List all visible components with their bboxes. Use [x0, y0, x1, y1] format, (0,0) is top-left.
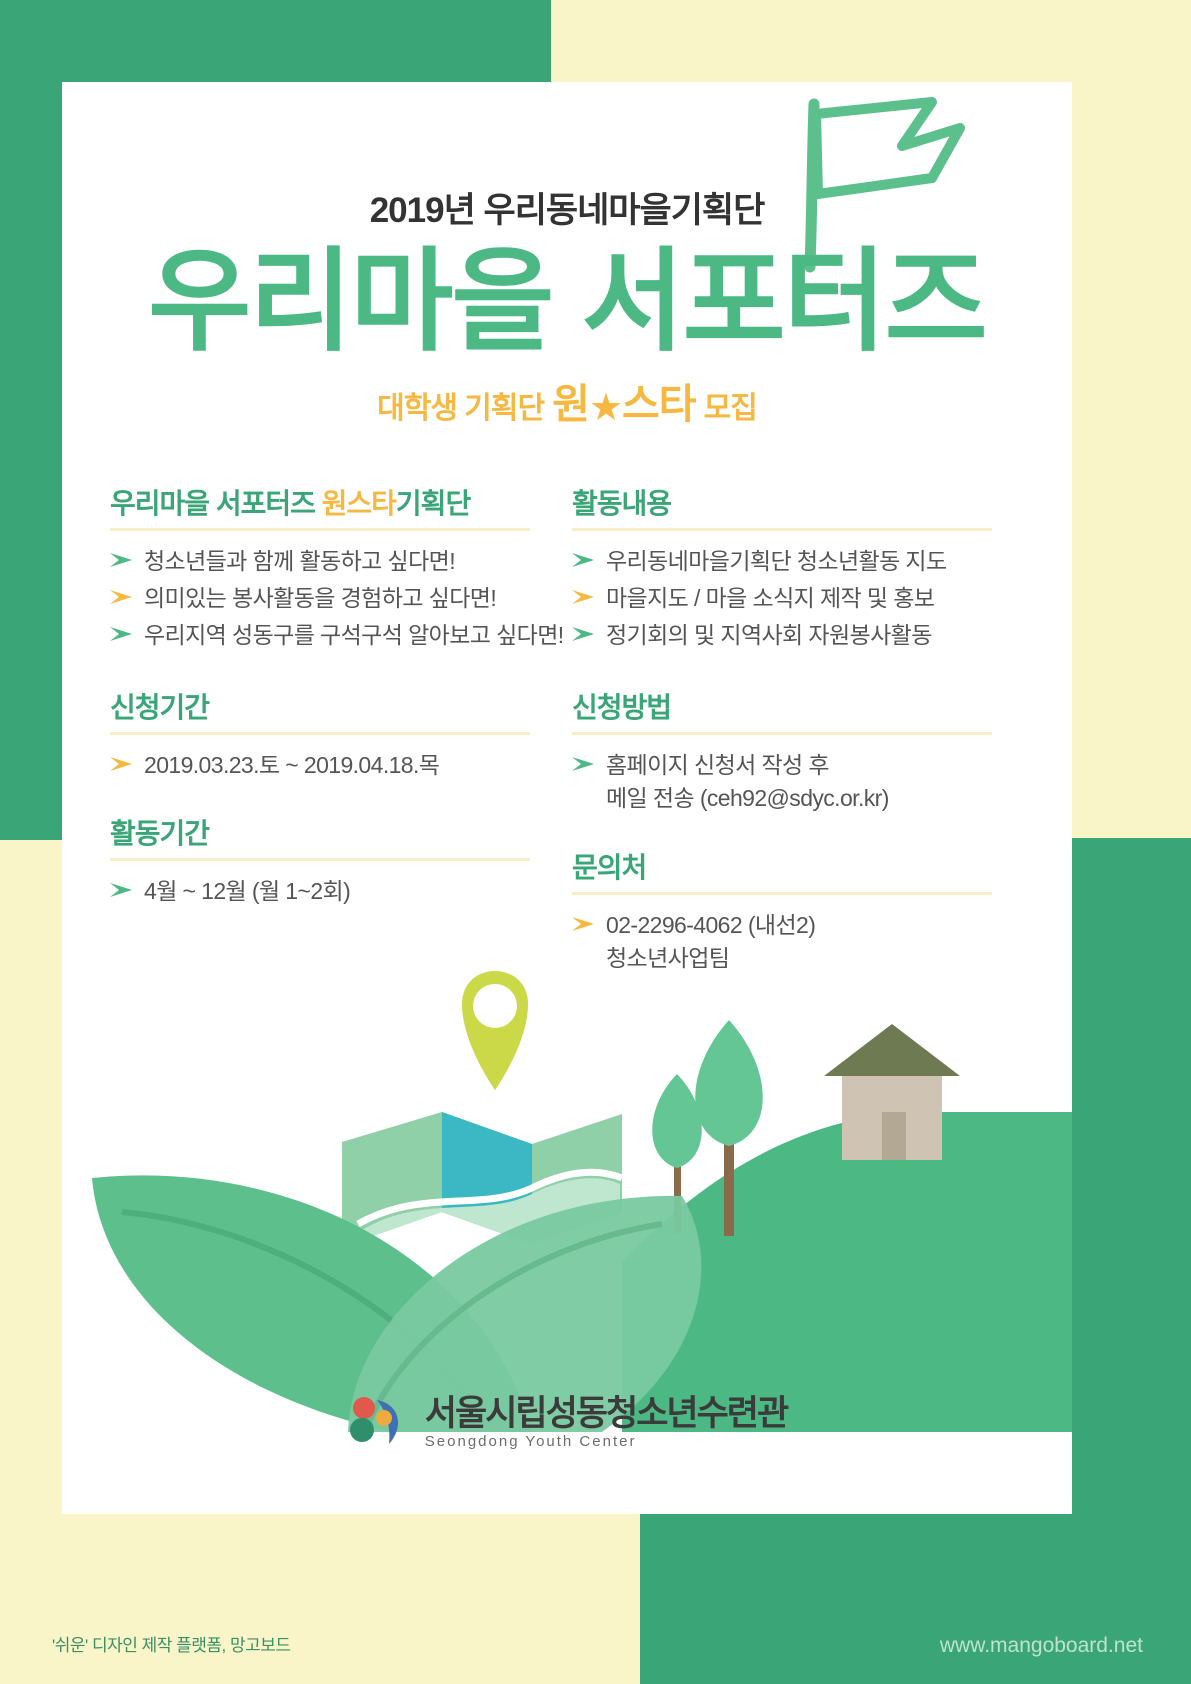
section-heading: 활동내용	[572, 482, 1032, 528]
section-heading-plain-b: 기획단	[396, 488, 470, 519]
section-heading-plain-a: 활동기간	[110, 818, 209, 849]
section-divider	[110, 732, 530, 735]
info-section: 활동기간4월 ~ 12월 (월 1~2회)	[110, 812, 570, 908]
list-item: 2019.03.23.토 ~ 2019.04.18.목	[110, 749, 570, 782]
arrow-bullet-yellow-icon	[572, 589, 596, 605]
list-item-text: 2019.03.23.토 ~ 2019.04.18.목	[144, 749, 439, 782]
list-item: 4월 ~ 12월 (월 1~2회)	[110, 875, 570, 908]
poster-kicker: 2019년 우리동네마을기획단	[62, 182, 1072, 233]
list-item-line-2: 메일 전송 (ceh92@sdyc.or.kr)	[606, 782, 889, 815]
list-item-line-1: 우리동네마을기획단 청소년활동 지도	[606, 548, 947, 574]
list-item-line-1: 마을지도 / 마을 소식지 제작 및 홍보	[606, 585, 934, 611]
section-divider	[110, 528, 530, 531]
list-item-text: 우리동네마을기획단 청소년활동 지도	[606, 545, 947, 578]
info-section: 우리마을 서포터즈 원스타기획단청소년들과 함께 활동하고 싶다면!의미있는 봉…	[110, 482, 570, 652]
page-title: 우리마을 서포터즈	[62, 232, 1072, 372]
section-heading-plain-a: 문의처	[572, 852, 646, 883]
footer-credit: '쉬운' 디자인 제작 플랫폼, 망고보드	[52, 1631, 291, 1656]
list-item: 마을지도 / 마을 소식지 제작 및 홍보	[572, 582, 1032, 615]
list-item: 청소년들과 함께 활동하고 싶다면!	[110, 545, 570, 578]
arrow-bullet-green-icon	[110, 552, 134, 568]
section-heading-plain-a: 활동내용	[572, 488, 671, 519]
list-item-line-1: 정기회의 및 지역사회 자원봉사활동	[606, 622, 932, 648]
info-columns: 우리마을 서포터즈 원스타기획단청소년들과 함께 활동하고 싶다면!의미있는 봉…	[62, 482, 1072, 1042]
arrow-bullet-green-icon	[572, 552, 596, 568]
section-heading-plain-a: 신청방법	[572, 692, 671, 723]
section-heading-plain-a: 우리마을 서포터즈	[110, 488, 322, 519]
list-item-line-1: 의미있는 봉사활동을 경험하고 싶다면!	[144, 585, 496, 611]
list-item-text: 정기회의 및 지역사회 자원봉사활동	[606, 619, 932, 652]
arrow-bullet-green-icon	[110, 882, 134, 898]
map-pin-icon	[462, 971, 528, 1090]
footer-website: www.mangoboard.net	[940, 1634, 1143, 1658]
list-item-line-1: 홈페이지 신청서 작성 후	[606, 752, 829, 778]
arrow-bullet-green-icon	[572, 626, 596, 642]
list-item-line-1: 02-2296-4062 (내선2)	[606, 912, 815, 938]
list-item: 우리동네마을기획단 청소년활동 지도	[572, 545, 1032, 578]
arrow-bullet-yellow-icon	[572, 916, 596, 932]
list-item-line-1: 우리지역 성동구를 구석구석 알아보고 싶다면!	[144, 622, 564, 648]
section-heading: 문의처	[572, 846, 1032, 892]
organization-logo: 서울시립성동청소년수련관 Seongdong Youth Center	[62, 1392, 1072, 1454]
info-section: 문의처02-2296-4062 (내선2)청소년사업팀	[572, 846, 1032, 975]
list-item-text: 4월 ~ 12월 (월 1~2회)	[144, 875, 350, 908]
info-section: 활동내용우리동네마을기획단 청소년활동 지도마을지도 / 마을 소식지 제작 및…	[572, 482, 1032, 652]
list-item-line-1: 4월 ~ 12월 (월 1~2회)	[144, 878, 350, 904]
subtitle-strong-b: 스타	[622, 381, 695, 427]
section-heading-highlight: 원스타	[322, 488, 396, 519]
section-divider	[110, 858, 530, 861]
list-item-text: 마을지도 / 마을 소식지 제작 및 홍보	[606, 582, 934, 615]
info-column-right: 활동내용우리동네마을기획단 청소년활동 지도마을지도 / 마을 소식지 제작 및…	[572, 482, 1032, 1005]
list-item-text: 우리지역 성동구를 구석구석 알아보고 싶다면!	[144, 619, 564, 652]
subtitle-prefix: 대학생 기획단	[377, 392, 544, 425]
arrow-bullet-yellow-icon	[110, 589, 134, 605]
illustration-village	[62, 962, 1072, 1432]
section-divider	[572, 892, 992, 895]
arrow-bullet-green-icon	[110, 626, 134, 642]
list-item-text: 의미있는 봉사활동을 경험하고 싶다면!	[144, 582, 496, 615]
subtitle-suffix: 모집	[704, 392, 757, 425]
info-column-left: 우리마을 서포터즈 원스타기획단청소년들과 함께 활동하고 싶다면!의미있는 봉…	[110, 482, 570, 939]
list-item: 정기회의 및 지역사회 자원봉사활동	[572, 619, 1032, 652]
subtitle-strong-a: 원	[552, 381, 589, 427]
section-heading: 우리마을 서포터즈 원스타기획단	[110, 482, 570, 528]
info-section: 신청기간2019.03.23.토 ~ 2019.04.18.목	[110, 686, 570, 782]
arrow-bullet-green-icon	[572, 756, 596, 772]
arrow-bullet-yellow-icon	[110, 756, 134, 772]
section-divider	[572, 732, 992, 735]
section-heading: 신청방법	[572, 686, 1032, 732]
info-section: 신청방법홈페이지 신청서 작성 후메일 전송 (ceh92@sdyc.or.kr…	[572, 686, 1032, 815]
section-heading: 신청기간	[110, 686, 570, 732]
logo-name-korean: 서울시립성동청소년수련관	[425, 1396, 787, 1433]
list-item: 홈페이지 신청서 작성 후메일 전송 (ceh92@sdyc.or.kr)	[572, 749, 1032, 815]
section-divider	[572, 528, 992, 531]
list-item-line-1: 청소년들과 함께 활동하고 싶다면!	[144, 548, 455, 574]
star-icon: ★	[589, 387, 622, 429]
list-item-text: 청소년들과 함께 활동하고 싶다면!	[144, 545, 455, 578]
logo-text-block: 서울시립성동청소년수련관 Seongdong Youth Center	[425, 1396, 787, 1450]
poster-subtitle: 대학생 기획단 원★스타 모집	[62, 370, 1072, 430]
logo-mark-icon	[347, 1392, 413, 1454]
house-icon	[824, 1024, 960, 1160]
logo-name-english: Seongdong Youth Center	[425, 1433, 637, 1450]
section-heading: 활동기간	[110, 812, 570, 858]
list-item-text: 홈페이지 신청서 작성 후메일 전송 (ceh92@sdyc.or.kr)	[606, 749, 889, 815]
poster-card: 2019년 우리동네마을기획단 우리마을 서포터즈 대학생 기획단 원★스타 모…	[62, 82, 1072, 1514]
list-item: 우리지역 성동구를 구석구석 알아보고 싶다면!	[110, 619, 570, 652]
section-heading-plain-a: 신청기간	[110, 692, 209, 723]
list-item-line-1: 2019.03.23.토 ~ 2019.04.18.목	[144, 752, 439, 778]
list-item: 의미있는 봉사활동을 경험하고 싶다면!	[110, 582, 570, 615]
